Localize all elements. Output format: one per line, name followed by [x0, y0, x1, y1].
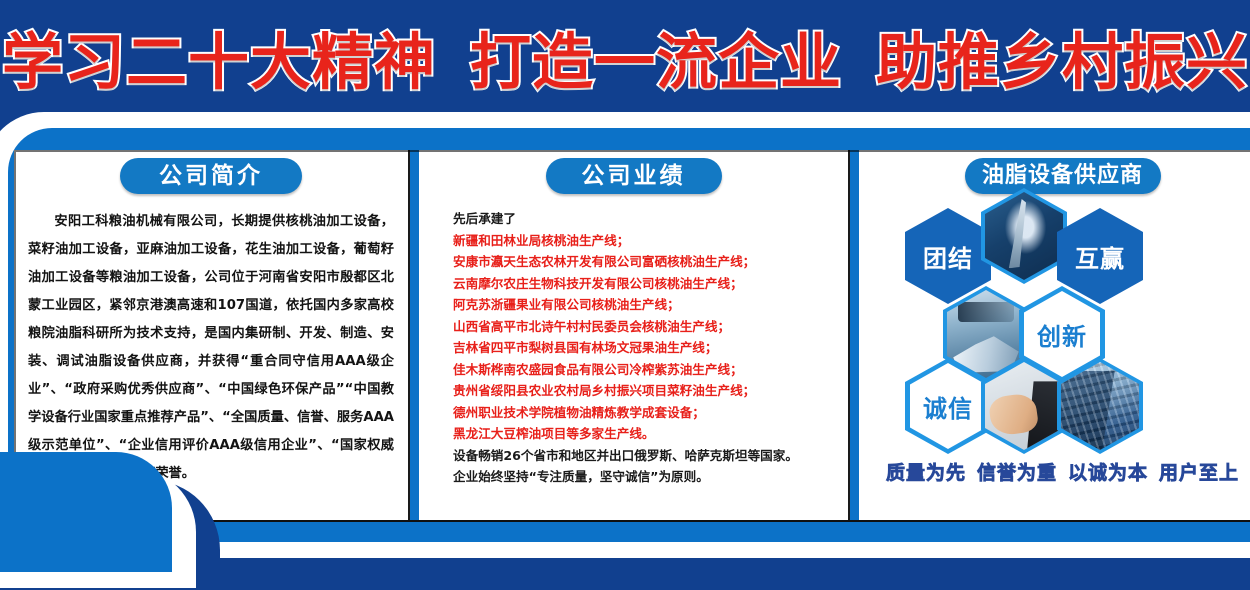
hexagon-aircraft-carrier — [981, 188, 1067, 284]
hexagon-cluster: 团结 互赢 创新 诚信 — [859, 202, 1250, 452]
project-item: 云南摩尔农庄生物科技开发有限公司核桃油生产线； — [453, 273, 848, 295]
poster-root: 学习二十大精神打造一流企业助推乡村振兴 公司简介 安阳工科粮油机械有限公司，长期… — [0, 0, 1250, 590]
slogan-part-1: 质量为先 — [886, 462, 966, 484]
performance-footer-line: 企业始终坚持“专注质量，坚守诚信”为原则。 — [453, 466, 848, 488]
project-item: 安康市瀛天生态农林开发有限公司富硒核桃油生产线； — [453, 251, 848, 273]
slogan-part-3: 以诚为本 — [1068, 462, 1148, 484]
aircraft-carrier-icon — [985, 192, 1063, 280]
page-title: 学习二十大精神打造一流企业助推乡村振兴 — [0, 12, 1250, 101]
headline-part-1: 学习二十大精神 — [2, 27, 436, 98]
hexagon-label: 团结 — [923, 239, 973, 274]
project-item: 阿克苏浙疆果业有限公司核桃油生产线； — [453, 294, 848, 316]
headline-part-3: 助推乡村振兴 — [876, 27, 1248, 98]
panel-title-company-profile: 公司简介 — [120, 158, 302, 194]
project-item: 吉林省四平市梨树县国有林场文冠果油生产线； — [453, 337, 848, 359]
panel-company-performance: 公司业绩 先后承建了 新疆和田林业局核桃油生产线； 安康市瀛天生态农林开发有限公… — [419, 150, 848, 522]
slogan-part-4: 用户至上 — [1159, 462, 1239, 484]
project-item: 黑龙江大豆榨油项目等多家生产线。 — [453, 423, 848, 445]
slogan-part-2: 信誉为重 — [977, 462, 1057, 484]
project-item: 德州职业技术学院植物油精炼教学成套设备； — [453, 402, 848, 424]
panel-title-supplier: 油脂设备供应商 — [965, 158, 1161, 194]
project-item: 佳木斯桦南农盛园食品有限公司冷榨紫苏油生产线； — [453, 359, 848, 381]
performance-list: 先后承建了 新疆和田林业局核桃油生产线； 安康市瀛天生态农林开发有限公司富硒核桃… — [453, 208, 848, 488]
skyscraper-icon — [1061, 362, 1139, 450]
header-band: 学习二十大精神打造一流企业助推乡村振兴 — [0, 0, 1250, 112]
headline-part-2: 打造一流企业 — [470, 27, 842, 98]
project-item: 新疆和田林业局核桃油生产线； — [453, 230, 848, 252]
project-item: 山西省高平市北诗午村村民委员会核桃油生产线； — [453, 316, 848, 338]
bottom-left-curve-blue — [0, 452, 172, 572]
hexagon-label: 互赢 — [1075, 239, 1125, 274]
hexagon-label: 诚信 — [923, 389, 973, 424]
panel-divider-2 — [848, 150, 859, 522]
performance-intro: 先后承建了 — [453, 208, 848, 230]
handshake-icon — [985, 362, 1063, 450]
project-item: 贵州省绥阳县农业农村局乡村振兴项目菜籽油生产线； — [453, 380, 848, 402]
supplier-slogan: 质量为先信誉为重以诚为本用户至上 — [859, 458, 1250, 485]
company-profile-body: 安阳工科粮油机械有限公司，长期提供核桃油加工设备，菜籽油加工设备，亚麻油加工设备… — [28, 208, 394, 488]
panel-supplier: 油脂设备供应商 团结 互赢 创新 — [859, 150, 1250, 522]
hexagon-tuanjie: 团结 — [905, 208, 991, 304]
hexagon-label: 创新 — [1037, 317, 1087, 352]
performance-footer-line: 设备畅销26个省市和地区并出口俄罗斯、哈萨克斯坦等国家。 — [453, 445, 848, 467]
panel-divider-1 — [408, 150, 419, 522]
panels-container: 公司简介 安阳工科粮油机械有限公司，长期提供核桃油加工设备，菜籽油加工设备，亚麻… — [14, 150, 1250, 522]
hexagon-huying: 互赢 — [1057, 208, 1143, 304]
panel-title-company-performance: 公司业绩 — [546, 158, 722, 194]
